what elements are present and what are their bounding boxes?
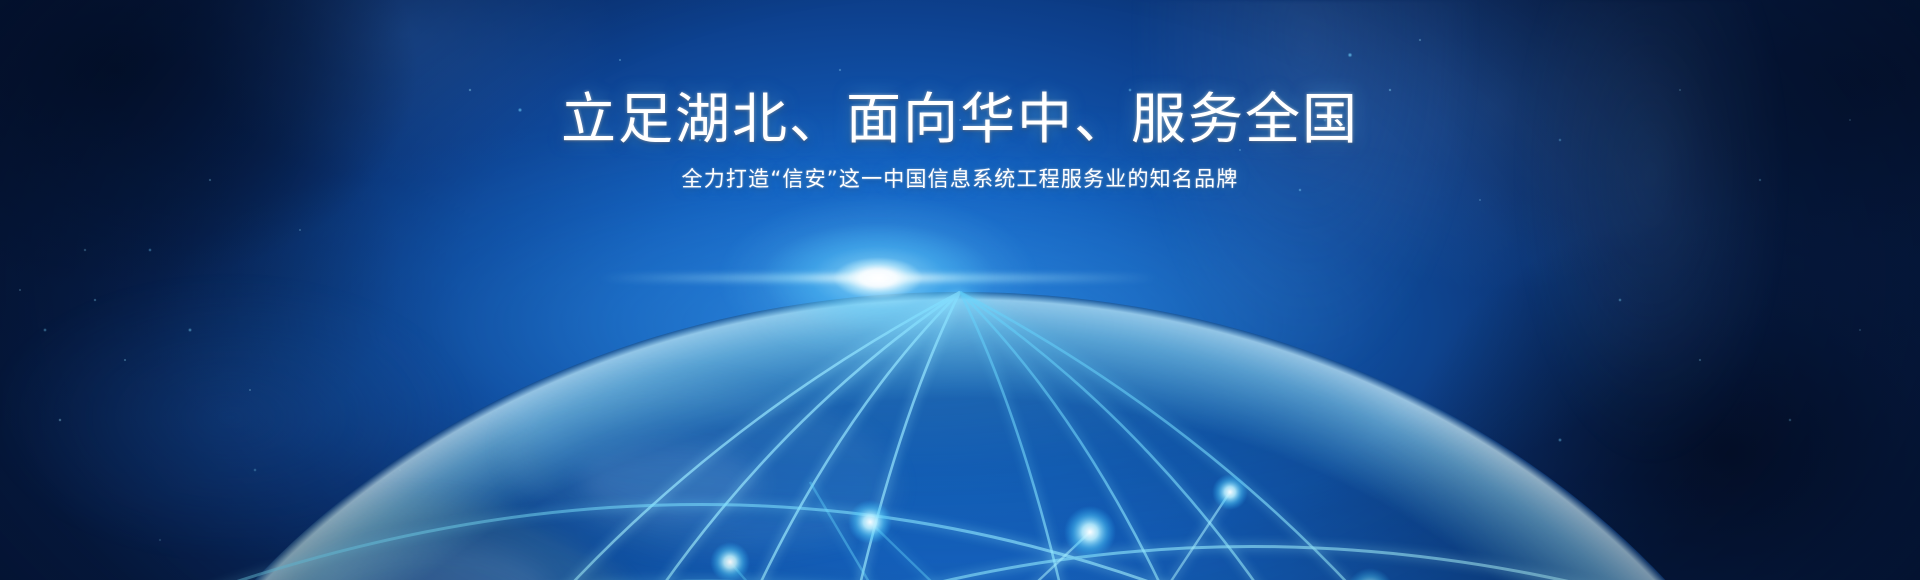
hero-banner: 立足湖北、面向华中、服务全国 全力打造“信安”这一中国信息系统工程服务业的知名品…	[0, 0, 1920, 580]
lens-flare-streak	[598, 274, 1158, 282]
banner-headline: 立足湖北、面向华中、服务全国	[0, 88, 1920, 152]
banner-text-block: 立足湖北、面向华中、服务全国 全力打造“信安”这一中国信息系统工程服务业的知名品…	[0, 88, 1920, 193]
banner-subheadline: 全力打造“信安”这一中国信息系统工程服务业的知名品牌	[0, 166, 1920, 193]
